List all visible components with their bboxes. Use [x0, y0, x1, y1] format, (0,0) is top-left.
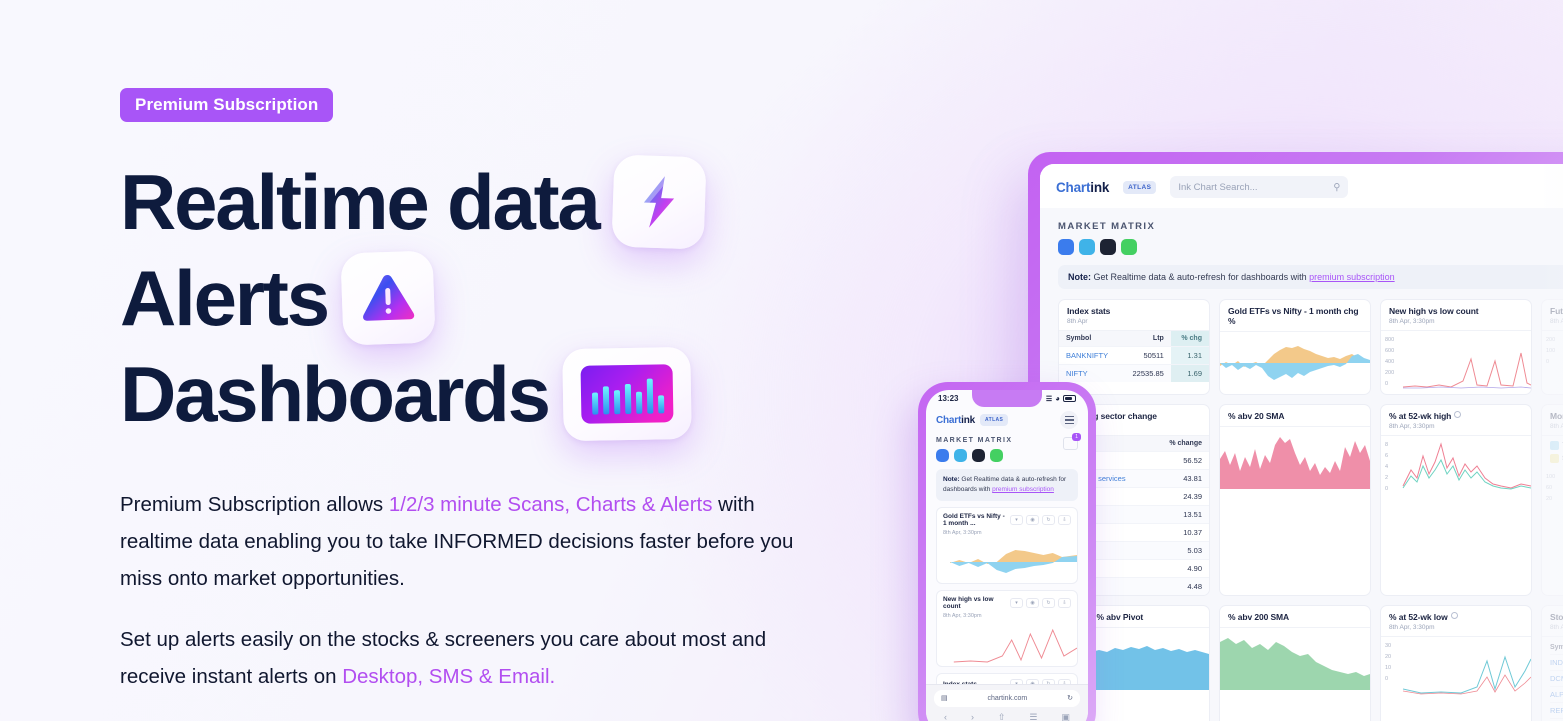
facebook-icon[interactable]	[936, 449, 949, 462]
card-52wk-high: % at 52-wk high 8th Apr, 3:30pm 8 6 4 2 …	[1380, 404, 1532, 596]
dashboard-grid: Index stats 8th Apr Symbol Ltp % chg BAN…	[1040, 289, 1563, 721]
card-futures-adv-decl: Futures Advancing V Declining 8th Apr, 3…	[1541, 299, 1563, 395]
chartink-logo[interactable]: Chartink	[1056, 180, 1109, 195]
reader-icon[interactable]: ▤	[941, 694, 948, 702]
cell-change: 24.39	[1151, 488, 1209, 506]
phone-mockup: 13:23 ☰ ◕ Chartink ATLAS MARKET MATRIX	[918, 382, 1096, 721]
card-subtitle: 8th Apr, 3:30pm	[937, 530, 1077, 539]
laptop-screen: Chartink ATLAS Ink Chart Search... ⚲ MAR…	[1040, 164, 1563, 721]
cell-change: 13.51	[1151, 506, 1209, 524]
headline-line-1: Realtime data	[120, 154, 880, 250]
search-icon: ⚲	[1333, 182, 1340, 193]
note-text: Get Realtime data & auto-refresh for das…	[1091, 272, 1309, 282]
social-share-row[interactable]	[1040, 232, 1563, 255]
card-header: Index stats 8th Apr	[1059, 300, 1209, 331]
filter-icon[interactable]: ▾	[1010, 515, 1023, 525]
card-header: Gold ETFs vs Nifty - 1 month ... ▾ ◉ ↻ ⇩	[937, 508, 1077, 530]
col-symbol: Symbol	[1550, 641, 1563, 654]
card-title: New high vs low count	[1389, 306, 1523, 316]
y-axis-labels: 200 100 0	[1546, 335, 1555, 368]
monthly-sector-chart: 100 60 20	[1542, 468, 1563, 530]
card-actions: ▾ ◉ ↻ ⇩	[1010, 515, 1071, 525]
card-header: New high vs low count 8th Apr, 3:30pm	[1381, 300, 1531, 331]
realtime-note-banner: Note: Get Realtime data & auto-refresh f…	[1058, 265, 1563, 289]
card-actions: ▾ ◉ ↻ ⇩	[1010, 598, 1071, 608]
telegram-icon[interactable]	[1079, 239, 1095, 255]
market-matrix-title: MARKET MATRIX	[1040, 208, 1563, 232]
premium-subscription-badge: Premium Subscription	[120, 88, 333, 122]
search-input[interactable]: Ink Chart Search... ⚲	[1170, 176, 1348, 198]
table-row: NIFTY 22535.85 1.69	[1059, 365, 1209, 383]
note-bold: Note:	[943, 476, 960, 483]
tabs-icon[interactable]: ▣	[1061, 712, 1070, 721]
cell-ltp: 50511	[1121, 347, 1171, 365]
col-symbol[interactable]: Symbol	[1059, 331, 1121, 347]
cell-chg: 1.31	[1171, 347, 1209, 365]
bar-chart-panel-icon	[562, 347, 692, 441]
card-monthly-sector: Monthly Sector A... 8th Apr, 3:30pm Text…	[1541, 404, 1563, 596]
card-title: Gold ETFs vs Nifty - 1 month ...	[943, 513, 1010, 527]
wk52-low-chart: 30 20 10 0	[1381, 637, 1531, 699]
card-title: Stock opportuniti...	[1550, 612, 1563, 622]
list-item[interactable]: ALPHAETF	[1550, 686, 1563, 702]
facebook-icon[interactable]	[1058, 239, 1074, 255]
cell-change: 56.52	[1151, 452, 1209, 470]
new-high-low-chart: 800 600 400 200 0	[1381, 331, 1531, 393]
list-item[interactable]: DCMSHRIRAM	[1550, 670, 1563, 686]
cell-change: 5.03	[1151, 542, 1209, 560]
phone-card-gold-etf: Gold ETFs vs Nifty - 1 month ... ▾ ◉ ↻ ⇩…	[936, 507, 1078, 584]
stock-symbol-list: Symbol INDOUS DCMSHRIRAM ALPHAETF REPRO …	[1542, 637, 1563, 721]
laptop-mockup: Chartink ATLAS Ink Chart Search... ⚲ MAR…	[1028, 152, 1563, 721]
forward-icon[interactable]: ›	[971, 712, 974, 721]
headline-text-dashboards: Dashboards	[120, 355, 549, 433]
card-52wk-low: % at 52-wk low 8th Apr, 3:30pm 30 20 10 …	[1380, 605, 1532, 721]
card-subtitle: 8th Apr, 3:30pm	[1389, 624, 1523, 631]
download-icon[interactable]: ⇩	[1058, 598, 1071, 608]
card-title: % at 52-wk high	[1389, 411, 1523, 421]
premium-subscription-link[interactable]: premium subscription	[992, 486, 1054, 493]
headline-line-3: Dashboards	[120, 346, 880, 442]
card-stock-opportunities: Stock opportuniti... 8th Apr, 3:21pm cut…	[1541, 605, 1563, 721]
atlas-tag: ATLAS	[980, 414, 1008, 426]
phone-new-high-low-chart	[937, 622, 1077, 666]
card-subtitle: 8th Apr, 3:21pm cut...	[1550, 624, 1563, 631]
atlas-tag: ATLAS	[1123, 181, 1156, 194]
status-indicators: ☰ ◕	[1046, 394, 1076, 403]
monthly-sector-legend: Textiles Me... Quick service r... Servic…	[1542, 436, 1563, 468]
col-pct-change[interactable]: % change	[1151, 436, 1209, 452]
card-title: % abv 200 SMA	[1228, 612, 1362, 622]
eye-icon[interactable]: ◉	[1026, 598, 1039, 608]
refresh-icon[interactable]: ↻	[1042, 598, 1055, 608]
info-icon[interactable]	[1454, 411, 1461, 418]
abv-20-sma-chart	[1220, 427, 1370, 489]
card-header: % at 52-wk low 8th Apr, 3:30pm	[1381, 606, 1531, 637]
cell-symbol[interactable]: NIFTY	[1059, 365, 1121, 383]
cell-symbol[interactable]: BANKNIFTY	[1059, 347, 1121, 365]
y-axis-labels: 100 60 20	[1546, 472, 1555, 505]
status-time: 13:23	[938, 394, 958, 403]
card-index-stats: Index stats 8th Apr Symbol Ltp % chg BAN…	[1058, 299, 1210, 395]
telegram-icon[interactable]	[954, 449, 967, 462]
hamburger-menu-icon[interactable]	[1060, 411, 1078, 429]
back-icon[interactable]: ‹	[944, 712, 947, 721]
legend-item: Textiles	[1550, 441, 1563, 450]
card-header: Gold ETFs vs Nifty - 1 month chg %	[1220, 300, 1370, 332]
paragraph-1: Premium Subscription allows 1/2/3 minute…	[120, 486, 832, 597]
app-topbar: Chartink ATLAS Ink Chart Search... ⚲	[1040, 164, 1563, 208]
card-title: % abv 20 SMA	[1228, 411, 1362, 421]
cell-change: 10.37	[1151, 524, 1209, 542]
index-stats-table: Symbol Ltp % chg BANKNIFTY 50511 1.31 NI…	[1059, 331, 1209, 382]
realtime-note-banner: Note: Get Realtime data & auto-refresh f…	[936, 469, 1078, 501]
p1-highlight: 1/2/3 minute Scans, Charts & Alerts	[389, 493, 713, 516]
info-icon[interactable]	[1451, 612, 1458, 619]
cell-change: 43.81	[1151, 470, 1209, 488]
y-axis-labels: 30 20 10 0	[1385, 641, 1391, 685]
card-title: New high vs low count	[943, 596, 1010, 610]
phone-screen: 13:23 ☰ ◕ Chartink ATLAS MARKET MATRIX	[926, 390, 1088, 721]
refresh-icon[interactable]: ↻	[1042, 515, 1055, 525]
card-header: New high vs low count ▾ ◉ ↻ ⇩	[937, 591, 1077, 613]
safari-nav-row: ‹ › ⇧ ☰ ▣	[934, 707, 1080, 721]
y-axis-labels: 8 6 4 2 0	[1385, 440, 1388, 495]
card-new-high-low: New high vs low count 8th Apr, 3:30pm 80…	[1380, 299, 1532, 395]
card-header: Monthly Sector A... 8th Apr, 3:30pm	[1542, 405, 1563, 436]
gold-etf-chart	[1220, 332, 1370, 394]
legend-item: Services	[1550, 454, 1563, 463]
card-subtitle: 8th Apr, 3:30pm	[1389, 423, 1523, 430]
card-subtitle: 8th Apr, 3:30pm	[1389, 318, 1523, 325]
card-abv-200-sma: % abv 200 SMA	[1219, 605, 1371, 721]
headline: Realtime data Alerts	[120, 154, 880, 442]
notification-icon[interactable]: 1	[1063, 437, 1078, 450]
card-subtitle: 8th Apr, 3:30pm	[1550, 423, 1563, 430]
chartink-logo[interactable]: Chartink	[936, 415, 975, 426]
p2-highlight: Desktop, SMS & Email.	[342, 665, 555, 688]
note-bold: Note:	[1068, 272, 1091, 282]
cell-ltp: 22535.85	[1121, 365, 1171, 383]
social-share-row[interactable]	[936, 444, 1012, 462]
card-title: Gold ETFs vs Nifty - 1 month chg %	[1228, 306, 1362, 326]
card-gold-etf: Gold ETFs vs Nifty - 1 month chg %	[1219, 299, 1371, 395]
phone-notch	[972, 390, 1042, 407]
cell-change: 4.48	[1151, 578, 1209, 596]
cell-chg: 1.69	[1171, 365, 1209, 383]
safari-browser-bar: ▤ chartink.com ↻ ‹ › ⇧ ☰ ▣	[926, 684, 1088, 721]
card-title: Index stats	[1067, 306, 1201, 316]
phone-market-matrix-row: MARKET MATRIX 1	[926, 429, 1088, 462]
card-header: % at 52-wk high 8th Apr, 3:30pm	[1381, 405, 1531, 436]
card-title: Monthly Sector A...	[1550, 411, 1563, 421]
cell-change: 4.90	[1151, 560, 1209, 578]
whatsapp-icon[interactable]	[990, 449, 1003, 462]
bookmarks-icon[interactable]: ☰	[1029, 712, 1037, 721]
card-subtitle: 8th Apr, 3:30pm	[937, 613, 1077, 622]
phone-gold-etf-chart	[937, 539, 1077, 583]
reload-icon[interactable]: ↻	[1067, 694, 1073, 702]
notification-count: 1	[1072, 433, 1081, 441]
card-subtitle: 8th Apr, 3:30pm	[1550, 318, 1563, 325]
card-title: % at 52-wk low	[1389, 612, 1523, 622]
url-bar[interactable]: ▤ chartink.com ↻	[934, 690, 1080, 707]
col-pct-chg[interactable]: % chg	[1171, 331, 1209, 347]
battery-icon	[1063, 395, 1076, 402]
abv-200-sma-chart	[1220, 628, 1370, 690]
lightning-bolt-icon	[611, 154, 706, 249]
filter-icon[interactable]: ▾	[1010, 598, 1023, 608]
col-ltp[interactable]: Ltp	[1121, 331, 1171, 347]
hero-section: Premium Subscription Realtime data	[120, 88, 880, 695]
paragraph-2: Set up alerts easily on the stocks & scr…	[120, 621, 832, 695]
url-text: chartink.com	[988, 695, 1028, 702]
premium-subscription-link[interactable]: premium subscription	[1309, 272, 1395, 282]
signal-icon: ☰	[1046, 395, 1052, 403]
card-header: Futures Advancing V Declining 8th Apr, 3…	[1542, 300, 1563, 331]
table-row: BANKNIFTY 50511 1.31	[1059, 347, 1209, 365]
headline-text-realtime-data: Realtime data	[120, 163, 599, 241]
card-header: % abv 20 SMA	[1220, 405, 1370, 427]
share-icon[interactable]: ⇧	[998, 712, 1006, 721]
headline-text-alerts: Alerts	[120, 259, 328, 337]
card-header: % abv 200 SMA	[1220, 606, 1370, 628]
x-icon[interactable]	[972, 449, 985, 462]
wifi-icon: ◕	[1055, 394, 1060, 403]
market-matrix-title: MARKET MATRIX	[936, 437, 1012, 444]
card-abv-20-sma: % abv 20 SMA	[1219, 404, 1371, 596]
card-subtitle: 8th Apr	[1067, 318, 1201, 325]
search-placeholder: Ink Chart Search...	[1178, 182, 1257, 193]
x-icon[interactable]	[1100, 239, 1116, 255]
wk52-high-chart: 8 6 4 2 0	[1381, 436, 1531, 498]
headline-line-2: Alerts	[120, 250, 880, 346]
description-block: Premium Subscription allows 1/2/3 minute…	[120, 486, 880, 695]
eye-icon[interactable]: ◉	[1026, 515, 1039, 525]
table-header-row: Symbol Ltp % chg	[1059, 331, 1209, 347]
card-header: Stock opportuniti... 8th Apr, 3:21pm cut…	[1542, 606, 1563, 637]
alert-triangle-icon	[340, 250, 435, 345]
card-title: Futures Advancing V Declining	[1550, 306, 1563, 316]
phone-card-new-high-low: New high vs low count ▾ ◉ ↻ ⇩ 8th Apr, 3…	[936, 590, 1078, 667]
download-icon[interactable]: ⇩	[1058, 515, 1071, 525]
list-item[interactable]: REPRO	[1550, 702, 1563, 718]
futures-chart: 200 100 0	[1542, 331, 1563, 393]
device-mockup-stage: Chartink ATLAS Ink Chart Search... ⚲ MAR…	[900, 0, 1563, 721]
y-axis-labels: 800 600 400 200 0	[1385, 335, 1394, 390]
p1-text-a: Premium Subscription allows	[120, 493, 389, 516]
whatsapp-icon[interactable]	[1121, 239, 1137, 255]
list-item[interactable]: INDOUS	[1550, 654, 1563, 670]
